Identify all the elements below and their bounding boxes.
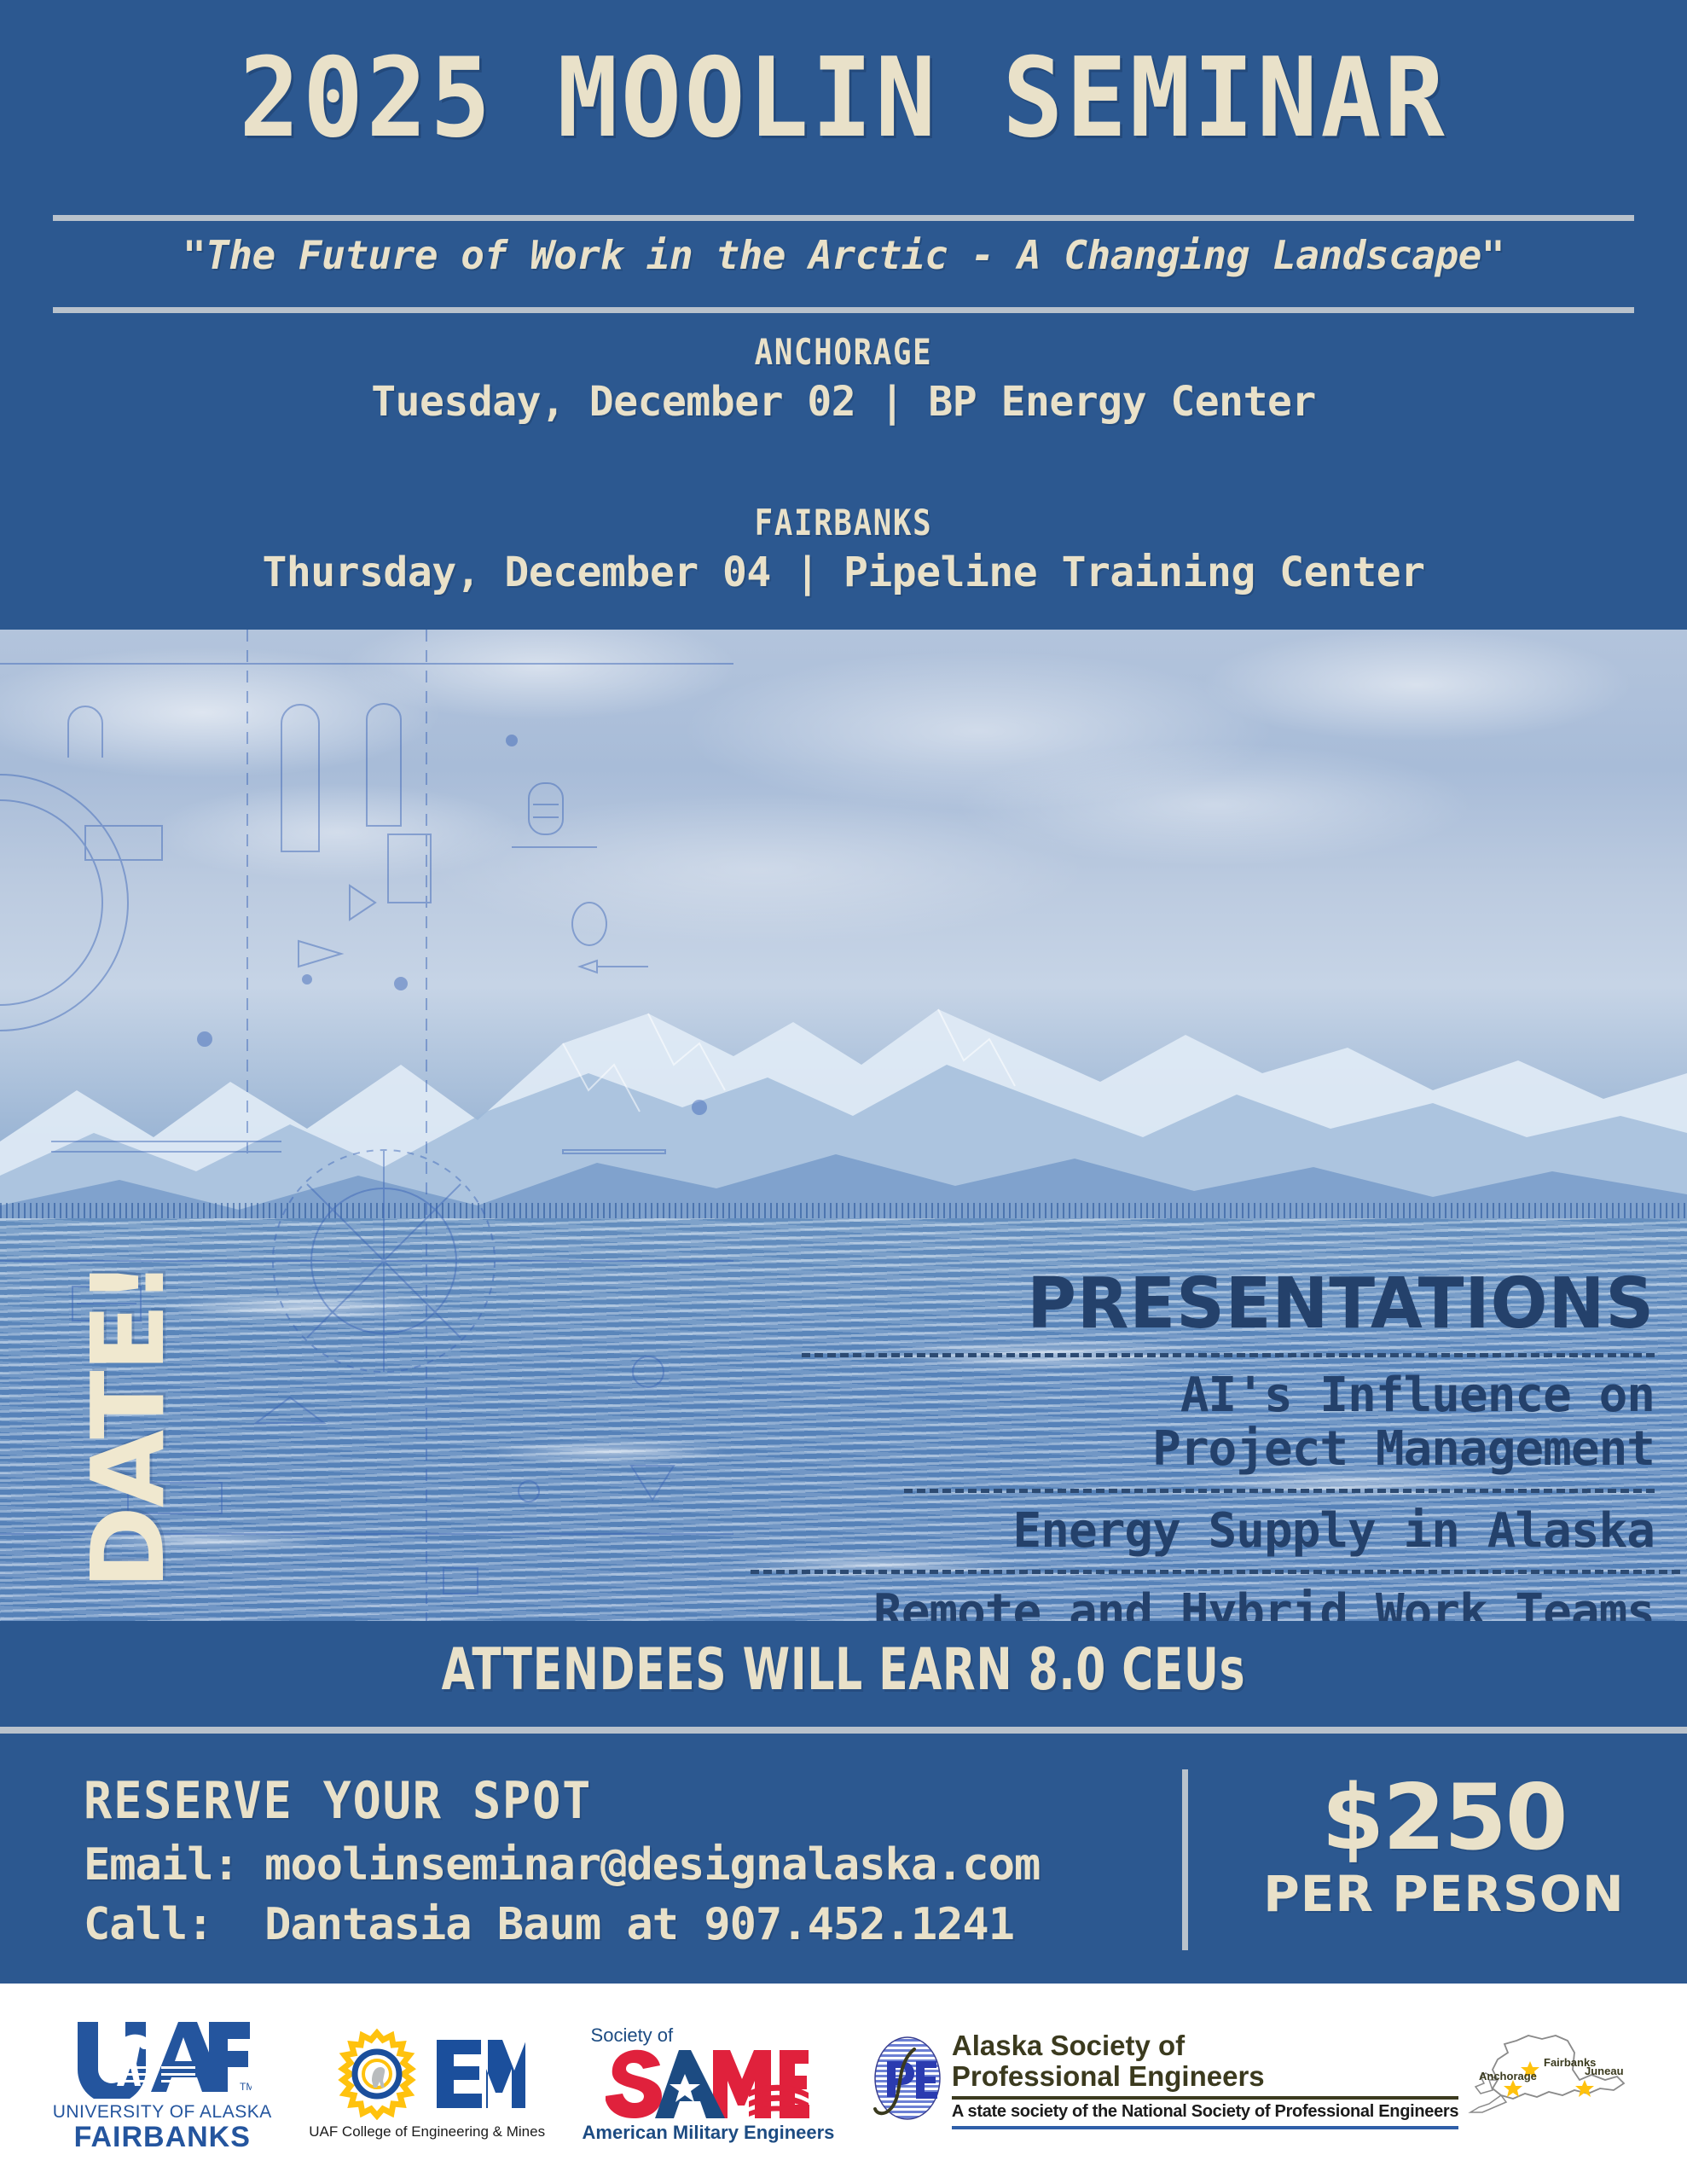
cem-gear-icon bbox=[329, 2028, 525, 2120]
uaf-wordmark-icon: TM bbox=[72, 2017, 252, 2099]
uaf-subtitle-1: UNIVERSITY OF ALASKA bbox=[53, 2102, 272, 2123]
sponsor-footer: TM UNIVERSITY OF ALASKA FAIRBANKS bbox=[0, 1984, 1687, 2184]
uaf-tm-mark: TM bbox=[240, 2081, 252, 2093]
reserve-section: RESERVE YOUR SPOT Email: moolinseminar@d… bbox=[0, 1734, 1687, 1984]
dashed-divider bbox=[751, 1570, 1680, 1574]
event-city-detail: Tuesday, December 02 | BP Energy Center bbox=[0, 378, 1687, 426]
price-unit: PER PERSON bbox=[1261, 1865, 1627, 1923]
reserve-contact-block: RESERVE YOUR SPOT Email: moolinseminar@d… bbox=[84, 1771, 1040, 1950]
landscape-section: SAVE THE DATE! PRESENTATIONS AI's Influe… bbox=[0, 630, 1687, 1621]
aspe-line-2: Professional Engineers bbox=[952, 2061, 1458, 2093]
event-city-name: ANCHORAGE bbox=[126, 331, 1560, 373]
ceu-divider bbox=[0, 1727, 1687, 1734]
page-title: 2025 MOOLIN SEMINAR bbox=[67, 44, 1620, 154]
map-label-anchorage: Anchorage bbox=[1479, 2070, 1537, 2082]
ceu-banner: ATTENDEES WILL EARN 8.0 CEUs bbox=[0, 1621, 1687, 1727]
dashed-divider bbox=[802, 1353, 1655, 1357]
mountain-range bbox=[0, 962, 1687, 1244]
poster-root: 2025 MOOLIN SEMINAR "The Future of Work … bbox=[0, 0, 1687, 2184]
presentation-item: AI's Influence on Project Management bbox=[751, 1369, 1655, 1476]
reserve-call-line[interactable]: Call: Dantasia Baum at 907.452.1241 bbox=[84, 1899, 1040, 1950]
poster-header: 2025 MOOLIN SEMINAR "The Future of Work … bbox=[0, 0, 1687, 630]
save-the-date-text: SAVE THE DATE! bbox=[69, 1261, 187, 1621]
event-fairbanks: FAIRBANKS Thursday, December 04 | Pipeli… bbox=[0, 502, 1687, 596]
presentation-item: Remote and Hybrid Work Teams bbox=[751, 1586, 1655, 1621]
logo-aspe: Alaska Society of Professional Engineers… bbox=[872, 2030, 1634, 2138]
reserve-heading: RESERVE YOUR SPOT bbox=[84, 1771, 964, 1831]
reserve-vertical-divider bbox=[1182, 1769, 1188, 1950]
aspe-line-1: Alaska Society of bbox=[952, 2030, 1458, 2062]
aspe-divider bbox=[952, 2096, 1458, 2100]
alaska-map-icon: Fairbanks Anchorage Juneau bbox=[1464, 2027, 1634, 2138]
logo-cem: UAF College of Engineering & Mines bbox=[309, 2028, 545, 2140]
price-block: $250 PER PERSON bbox=[1261, 1773, 1627, 1923]
event-city-detail: Thursday, December 04 | Pipeline Trainin… bbox=[0, 549, 1687, 596]
event-anchorage: ANCHORAGE Tuesday, December 02 | BP Ener… bbox=[0, 331, 1687, 426]
same-wordmark-icon bbox=[606, 2047, 810, 2120]
header-tagline: "The Future of Work in the Arctic - A Ch… bbox=[0, 232, 1687, 278]
reserve-email-line[interactable]: Email: moolinseminar@designalaska.com bbox=[84, 1839, 1040, 1891]
presentations-panel: PRESENTATIONS AI's Influence on Project … bbox=[751, 1268, 1655, 1621]
presentations-title: PRESENTATIONS bbox=[786, 1268, 1655, 1341]
aspe-line-3: A state society of the National Society … bbox=[952, 2102, 1458, 2122]
ceu-banner-text: ATTENDEES WILL EARN 8.0 CEUs bbox=[219, 1636, 1468, 1704]
save-the-date-label: SAVE THE DATE! bbox=[51, 1261, 205, 1621]
logo-same: Society of bbox=[583, 2024, 835, 2144]
map-label-juneau: Juneau bbox=[1585, 2065, 1624, 2077]
presentation-item: Energy Supply in Alaska bbox=[751, 1505, 1655, 1559]
same-top-text: Society of bbox=[591, 2024, 674, 2047]
aspe-text-block: Alaska Society of Professional Engineers… bbox=[952, 2030, 1458, 2130]
price-amount: $250 bbox=[1261, 1773, 1627, 1863]
logo-uaf: TM UNIVERSITY OF ALASKA FAIRBANKS bbox=[53, 2017, 272, 2152]
dashed-divider bbox=[904, 1489, 1655, 1493]
aspe-pe-badge-icon bbox=[872, 2034, 943, 2123]
header-divider-bottom bbox=[53, 307, 1634, 313]
same-bottom-text: American Military Engineers bbox=[583, 2122, 835, 2144]
header-divider-top bbox=[53, 215, 1634, 221]
cem-subtitle: UAF College of Engineering & Mines bbox=[309, 2123, 545, 2140]
uaf-subtitle-2: FAIRBANKS bbox=[74, 2123, 251, 2152]
aspe-blue-rule bbox=[952, 2126, 1458, 2129]
event-city-name: FAIRBANKS bbox=[126, 502, 1560, 543]
